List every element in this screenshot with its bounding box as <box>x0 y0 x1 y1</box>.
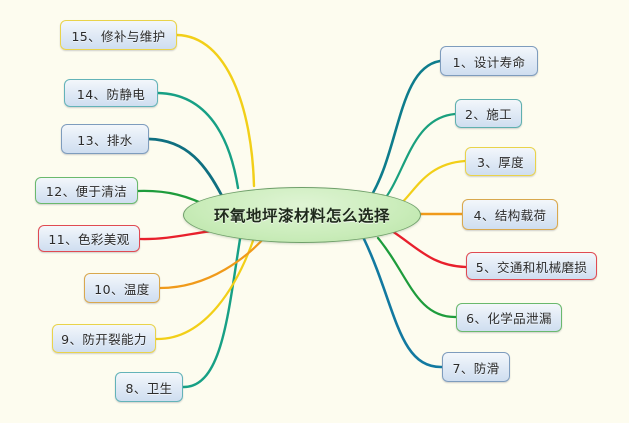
topic-node-label: 7、防滑 <box>452 358 499 377</box>
mindmap-canvas: 环氧地坪漆材料怎么选择1、设计寿命2、施工3、厚度4、结构载荷5、交通和机械磨损… <box>0 0 629 423</box>
topic-node-label: 8、卫生 <box>125 378 172 397</box>
topic-node-label: 1、设计寿命 <box>453 52 526 71</box>
topic-node-label: 10、温度 <box>94 279 149 298</box>
topic-node-label: 6、化学品泄漏 <box>466 308 552 327</box>
topic-node-label: 13、排水 <box>77 130 132 149</box>
topic-node-label: 12、便于清洁 <box>46 181 127 200</box>
branch-line-13 <box>149 139 222 196</box>
topic-node-13[interactable]: 13、排水 <box>61 124 149 154</box>
topic-node-11[interactable]: 11、色彩美观 <box>38 225 140 252</box>
branch-line-10 <box>160 236 266 288</box>
branch-line-2 <box>380 114 455 205</box>
topic-node-14[interactable]: 14、防静电 <box>64 79 158 107</box>
branch-line-5 <box>392 231 466 267</box>
topic-node-5[interactable]: 5、交通和机械磨损 <box>466 252 597 280</box>
topic-node-4[interactable]: 4、结构载荷 <box>462 199 558 230</box>
topic-node-label: 14、防静电 <box>77 84 145 103</box>
topic-node-label: 11、色彩美观 <box>48 229 129 248</box>
topic-node-label: 3、厚度 <box>477 152 524 171</box>
topic-node-15[interactable]: 15、修补与维护 <box>60 20 177 50</box>
topic-node-label: 5、交通和机械磨损 <box>476 257 588 276</box>
branch-line-1 <box>370 61 440 198</box>
topic-node-8[interactable]: 8、卫生 <box>115 372 183 402</box>
topic-node-label: 15、修补与维护 <box>71 26 165 45</box>
branch-line-14 <box>158 93 238 188</box>
topic-node-9[interactable]: 9、防开裂能力 <box>52 324 156 353</box>
branch-line-15 <box>177 35 254 186</box>
topic-node-6[interactable]: 6、化学品泄漏 <box>456 303 562 332</box>
topic-node-7[interactable]: 7、防滑 <box>442 352 510 382</box>
topic-node-2[interactable]: 2、施工 <box>455 99 522 128</box>
topic-node-label: 9、防开裂能力 <box>61 329 147 348</box>
topic-node-10[interactable]: 10、温度 <box>84 273 160 303</box>
topic-node-label: 4、结构载荷 <box>474 205 547 224</box>
topic-node-label: 2、施工 <box>465 104 512 123</box>
central-topic-label: 环氧地坪漆材料怎么选择 <box>214 204 390 226</box>
topic-node-3[interactable]: 3、厚度 <box>465 147 536 176</box>
topic-node-12[interactable]: 12、便于清洁 <box>35 177 138 204</box>
topic-node-1[interactable]: 1、设计寿命 <box>440 46 538 76</box>
central-topic-node[interactable]: 环氧地坪漆材料怎么选择 <box>183 187 421 243</box>
